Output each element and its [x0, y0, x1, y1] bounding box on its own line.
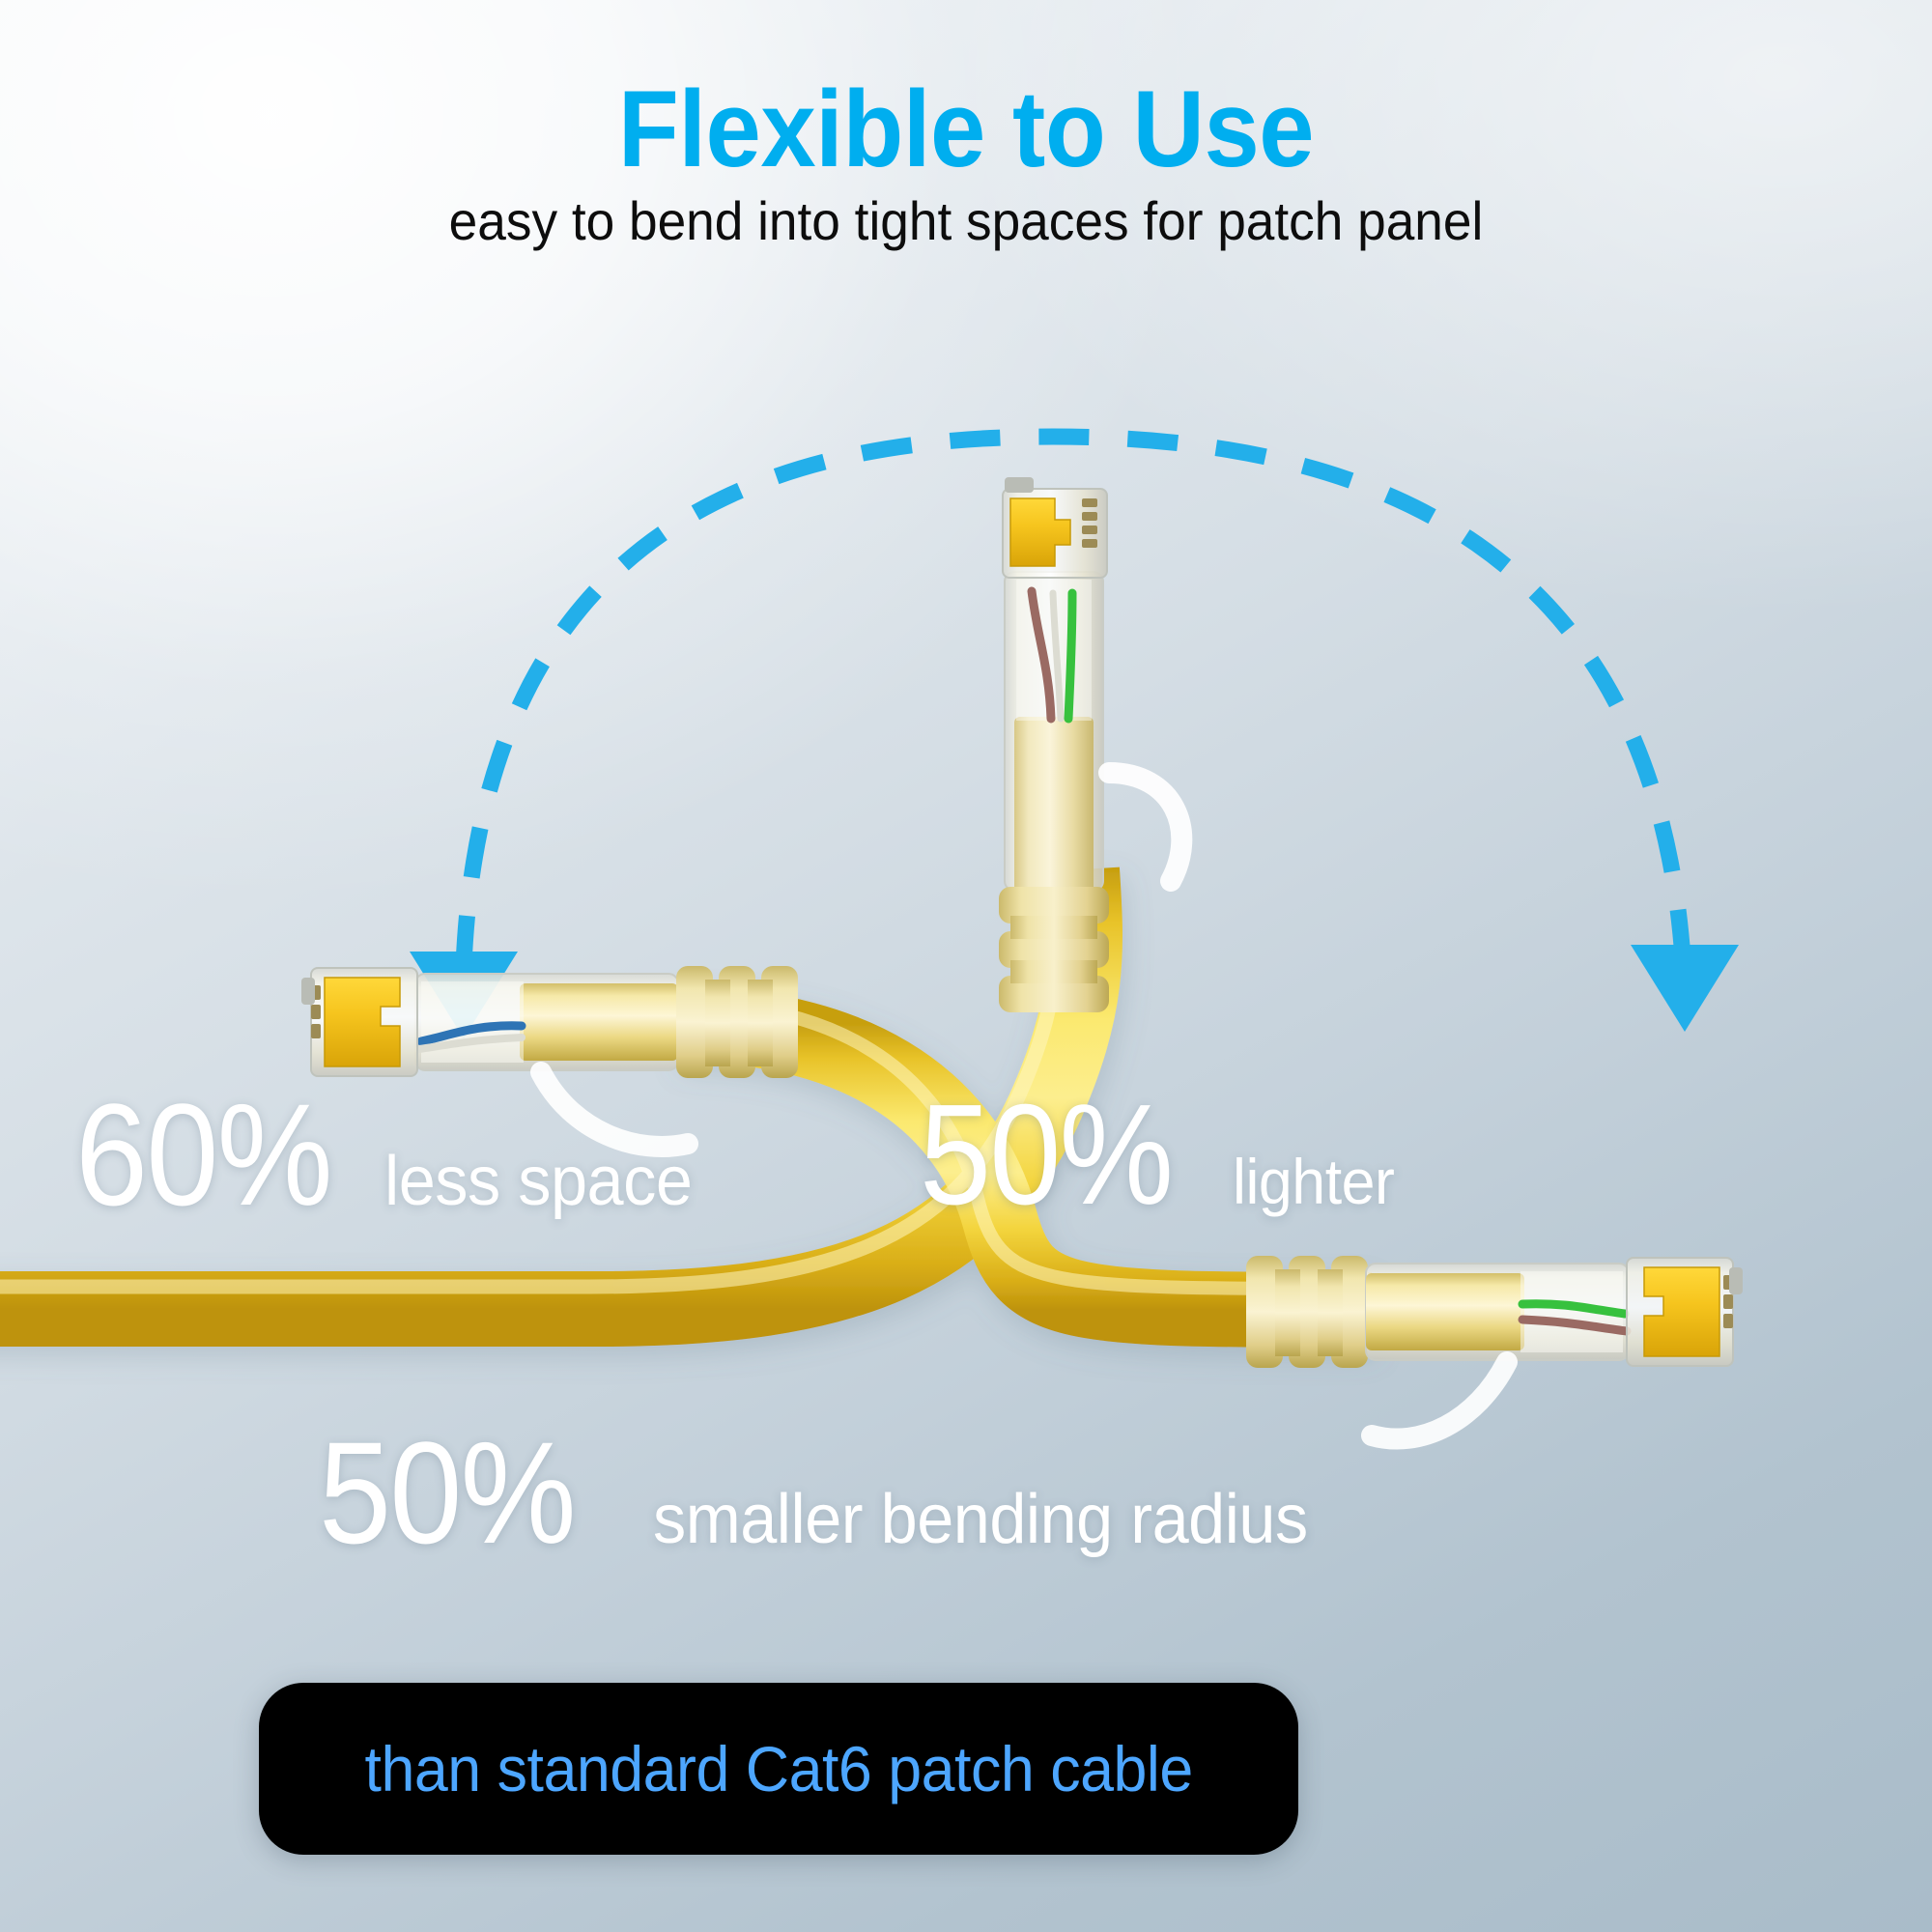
stat-percent: 50%: [920, 1084, 1172, 1227]
rj45-plug-right-icon: [1246, 1256, 1743, 1439]
stat-label: smaller bending radius: [653, 1485, 1308, 1554]
stat-label: lighter: [1233, 1150, 1394, 1213]
rj45-plug-vertical-icon: [999, 477, 1181, 1012]
stat-label: less space: [384, 1147, 692, 1216]
cable-illustration: [0, 0, 1932, 1932]
infographic-canvas: Flexible to Use easy to bend into tight …: [0, 0, 1932, 1932]
stat-lighter: 50% lighter: [920, 1084, 1403, 1227]
dashed-arc-icon: [464, 437, 1683, 966]
stat-less-space: 60% less space: [75, 1082, 708, 1227]
stat-percent: 50%: [319, 1420, 575, 1565]
stat-percent: 60%: [75, 1082, 331, 1227]
comparison-banner: than standard Cat6 patch cable: [259, 1683, 1298, 1855]
stat-bending-radius: 50% smaller bending radius: [319, 1420, 1343, 1565]
arrow-down-right-icon: [1631, 945, 1739, 1032]
comparison-banner-text: than standard Cat6 patch cable: [364, 1732, 1192, 1805]
arrow-down-left-icon: [410, 952, 518, 1038]
page-subtitle: easy to bend into tight spaces for patch…: [48, 193, 1884, 250]
page-title: Flexible to Use: [77, 75, 1855, 184]
